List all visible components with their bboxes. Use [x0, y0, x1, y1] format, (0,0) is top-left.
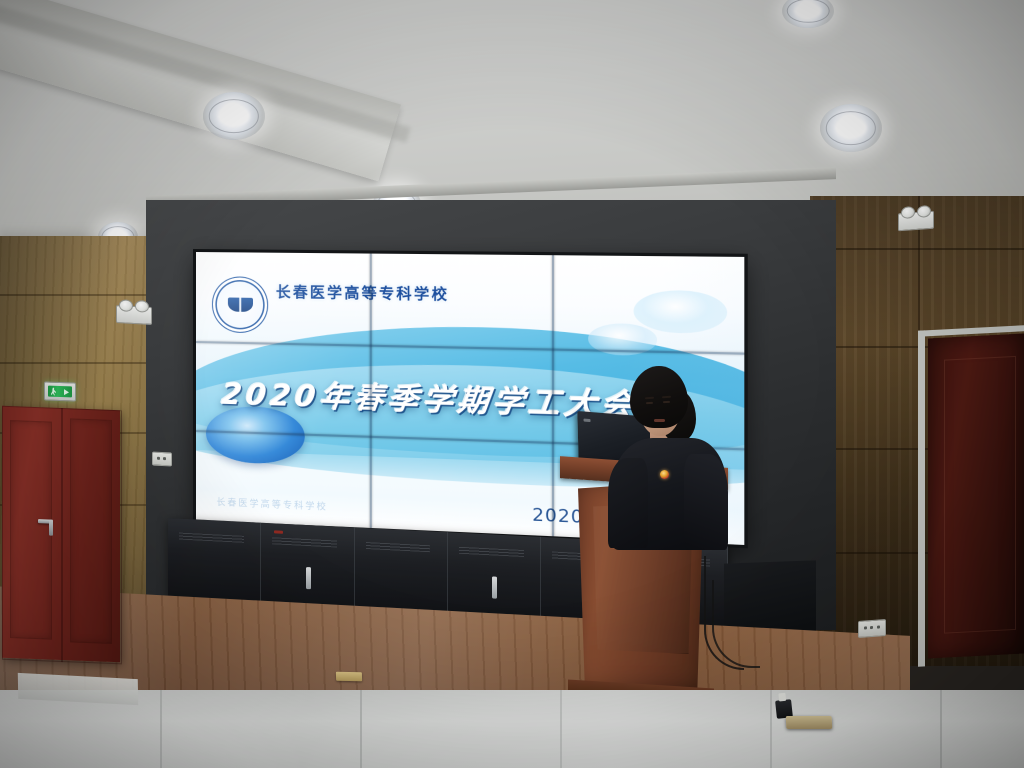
emergency-lamp-icon	[901, 206, 915, 219]
floor-power-strip[interactable]	[786, 716, 833, 729]
left-arm	[608, 458, 648, 548]
open-book-icon	[228, 297, 253, 311]
door-frame	[918, 325, 1024, 667]
emergency-lamp-icon	[917, 205, 931, 218]
mahogany-double-door[interactable]	[2, 406, 120, 663]
mouth	[654, 419, 665, 422]
ceiling-downlight-icon	[203, 92, 265, 140]
exit-sign	[44, 381, 76, 401]
slide-school-name: 长春医学高等专科学校	[276, 281, 449, 305]
conference-hall-photo: 长春医学高等专科学校 2020年春季学期学工大会 长春医学高等专科学校 2020	[0, 0, 1024, 768]
door-handle-icon[interactable]	[38, 519, 52, 524]
wall-power-outlet[interactable]	[152, 451, 172, 466]
running-man-icon	[51, 387, 56, 395]
twin-lamp-emergency-light	[898, 211, 934, 232]
lapel-pin-badge	[660, 470, 669, 479]
floor-reflection	[0, 690, 1024, 768]
twin-lamp-emergency-light	[116, 305, 152, 325]
school-seal-logo	[212, 276, 268, 333]
exit-arrow-icon	[64, 389, 69, 395]
presenter-person	[608, 366, 726, 546]
ceiling-downlight-icon	[820, 104, 882, 152]
emergency-lamp-icon	[135, 300, 149, 313]
emergency-lamp-icon	[119, 299, 133, 312]
wall-power-outlet[interactable]	[858, 619, 886, 638]
paper-on-stage	[336, 672, 362, 681]
right-arm	[684, 454, 728, 550]
